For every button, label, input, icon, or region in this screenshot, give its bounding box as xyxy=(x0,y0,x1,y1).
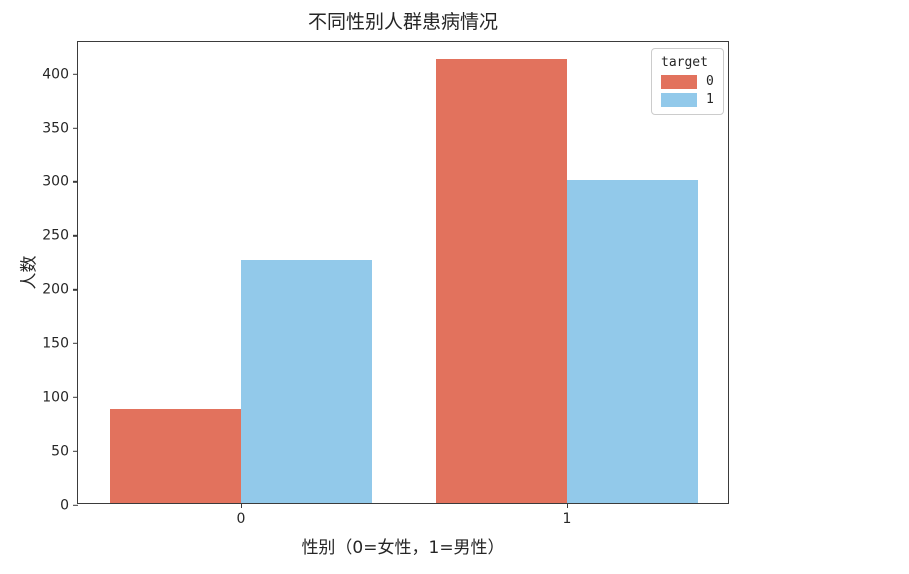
y-tick: 400 xyxy=(0,74,78,75)
x-tick-label: 0 xyxy=(237,511,246,527)
legend-swatch-0 xyxy=(661,75,697,89)
y-tick-mark xyxy=(73,504,78,505)
y-axis-label-text: 人数 xyxy=(15,256,40,290)
bar-1-series-1 xyxy=(567,180,698,503)
chart-title: 不同性别人群患病情况 xyxy=(77,10,729,34)
y-tick-label: 150 xyxy=(42,335,69,351)
y-tick: 300 xyxy=(0,181,78,182)
y-tick: 350 xyxy=(0,128,78,129)
legend-title: target xyxy=(661,55,714,70)
y-tick-label: 400 xyxy=(42,66,69,82)
x-tick-label: 1 xyxy=(563,511,572,527)
y-tick: 150 xyxy=(0,343,78,344)
x-tick-mark xyxy=(241,503,242,508)
y-tick-label: 200 xyxy=(42,282,69,298)
y-axis-label: 人数 xyxy=(16,41,38,504)
x-axis-label: 性别（0=女性，1=男性） xyxy=(77,533,729,558)
legend-item-0[interactable]: 0 xyxy=(661,74,714,89)
y-tick-label: 300 xyxy=(42,174,69,190)
y-tick: 50 xyxy=(0,451,78,452)
plot-area: 050100150200250300350400 01 xyxy=(77,41,729,504)
x-tick-mark xyxy=(567,503,568,508)
y-tick-label: 50 xyxy=(51,443,69,459)
legend-entries: 01 xyxy=(661,74,714,107)
legend-label-1: 1 xyxy=(706,92,714,107)
chart-figure: 不同性别人群患病情况 人数 050100150200250300350400 0… xyxy=(0,0,909,574)
y-tick-label: 0 xyxy=(60,497,69,513)
y-tick: 0 xyxy=(0,505,78,506)
legend: target 01 xyxy=(651,48,724,115)
y-tick-label: 350 xyxy=(42,120,69,136)
y-tick-label: 250 xyxy=(42,228,69,244)
y-tick-label: 100 xyxy=(42,389,69,405)
legend-item-1[interactable]: 1 xyxy=(661,92,714,107)
y-tick: 100 xyxy=(0,397,78,398)
bar-0-series-1 xyxy=(241,260,372,503)
legend-label-0: 0 xyxy=(706,74,714,89)
bar-1-series-0 xyxy=(436,59,567,503)
bars-layer xyxy=(78,42,728,503)
bar-0-series-0 xyxy=(110,409,241,503)
legend-swatch-1 xyxy=(661,93,697,107)
y-tick: 200 xyxy=(0,289,78,290)
y-tick: 250 xyxy=(0,235,78,236)
